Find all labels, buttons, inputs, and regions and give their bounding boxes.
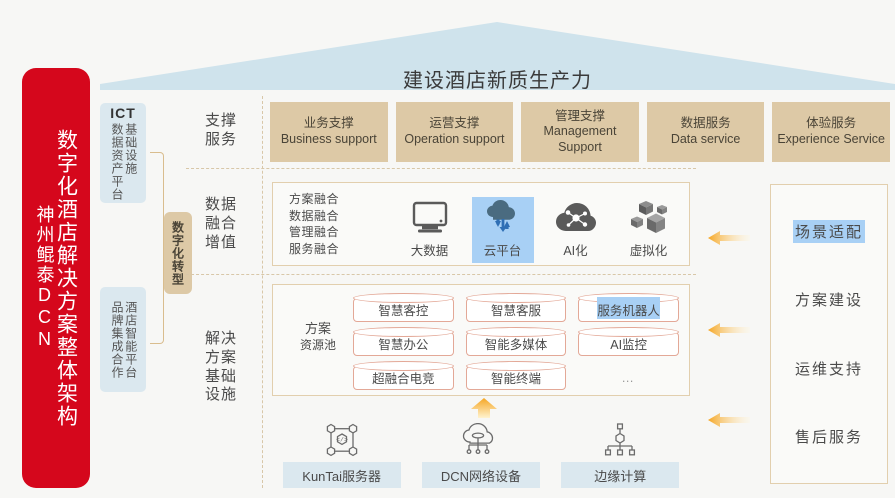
- support-card-cn: 数据服务: [681, 116, 731, 132]
- fusion-item-virtualization[interactable]: 虚拟化: [618, 197, 680, 263]
- resource-item-label: 智能终端: [491, 365, 541, 387]
- support-services-row: 业务支撑 Business support 运营支撑 Operation sup…: [270, 102, 890, 162]
- infra-item-network[interactable]: DCN网络设备: [422, 419, 540, 488]
- infra-item-label: DCN网络设备: [422, 462, 540, 488]
- fusion-item-ai[interactable]: AI化: [545, 197, 607, 263]
- resource-item-more: …: [576, 361, 681, 391]
- resource-item[interactable]: 智慧客控: [351, 293, 456, 323]
- left-arrow-icon-1: [708, 230, 750, 246]
- ai-cloud-icon: [555, 197, 597, 239]
- resource-item-label: …: [621, 368, 636, 385]
- hotel-line3: 品牌集成合作: [109, 301, 123, 379]
- sidebar-item-hotel-platform[interactable]: 酒店智能平台 品牌集成合作: [100, 287, 146, 392]
- data-fusion-panel: 方案融合数据融合管理融合服务融合 大数据: [272, 182, 690, 266]
- service-item-scenario[interactable]: 场景适配: [793, 220, 865, 243]
- row-label-sol-l2: 方案: [198, 349, 244, 368]
- resource-item-label: AI监控: [610, 331, 647, 353]
- service-lifecycle-panel: 场景适配 方案建设 运维支持 售后服务: [770, 184, 888, 484]
- architecture-diagram: 数字化酒店解决方案整体架构 神州鲲泰DCN 建设酒店新质生产力 ICT 基础设施…: [0, 0, 895, 498]
- support-card-en: Management Support: [523, 124, 637, 155]
- monitor-icon: [411, 197, 449, 239]
- data-fusion-icon-list: 大数据 云平台: [393, 187, 685, 263]
- support-card[interactable]: 数据服务 Data service: [647, 102, 765, 162]
- resource-pool-panel: 方案 资源池 智慧客控 智慧客服 服务机器人 智慧办公 智能多媒体 AI监控 超…: [272, 284, 690, 396]
- infra-item-server[interactable]: </> KunTai服务器: [283, 419, 401, 488]
- cloud-network-icon: [461, 419, 501, 457]
- resource-pool-label-top: 方案: [285, 321, 351, 338]
- ict-heading: ICT: [110, 105, 136, 121]
- fusion-item-label: AI化: [563, 240, 587, 259]
- row-label-support: 支撑服务: [198, 112, 244, 150]
- bracket-connector: [150, 152, 164, 344]
- infra-item-label: 边缘计算: [561, 462, 679, 488]
- support-card-cn: 运营支撑: [429, 116, 479, 132]
- hotel-line1: 酒店智能平台: [123, 301, 137, 379]
- vertical-divider: [262, 96, 263, 488]
- support-card-en: Operation support: [404, 132, 504, 148]
- resource-pool-label-bottom: 资源池: [285, 338, 351, 354]
- support-card[interactable]: 管理支撑 Management Support: [521, 102, 639, 162]
- resource-item[interactable]: 智能终端: [464, 361, 569, 391]
- ict-line1: 基础设施: [123, 123, 137, 201]
- resource-item[interactable]: 智慧客服: [464, 293, 569, 323]
- infrastructure-row: </> KunTai服务器 DCN网络: [272, 412, 690, 488]
- support-card-en: Business support: [281, 132, 377, 148]
- row-label-support-l2: 服务: [198, 131, 244, 150]
- horizontal-divider-1: [186, 168, 696, 169]
- row-label-data-fusion: 数据融合增值: [198, 196, 244, 252]
- banner-title-main: 数字化酒店解决方案整体架构: [56, 129, 77, 428]
- support-card[interactable]: 业务支撑 Business support: [270, 102, 388, 162]
- resource-item-label: 服务机器人: [597, 297, 660, 319]
- service-item-construction[interactable]: 方案建设: [793, 288, 865, 311]
- server-mesh-icon: </>: [325, 419, 359, 457]
- fusion-item-label: 云平台: [484, 240, 522, 259]
- row-label-sol-l4: 设施: [198, 386, 244, 405]
- support-card-cn: 体验服务: [806, 116, 856, 132]
- row-label-data-l3: 增值: [198, 234, 244, 253]
- title-banner: 数字化酒店解决方案整体架构 神州鲲泰DCN: [22, 68, 90, 488]
- resource-item-label: 超融合电竞: [372, 365, 435, 387]
- support-card-cn: 管理支撑: [555, 109, 605, 125]
- fusion-item-bigdata[interactable]: 大数据: [399, 197, 461, 263]
- resource-item-label: 智慧客服: [491, 297, 541, 319]
- digital-transformation-label: 数字化转型: [170, 221, 187, 286]
- row-label-solution: 解决方案基础设施: [198, 330, 244, 405]
- resource-item[interactable]: 超融合电竞: [351, 361, 456, 391]
- resource-item[interactable]: 智慧办公: [351, 327, 456, 357]
- resource-item[interactable]: 智能多媒体: [464, 327, 569, 357]
- support-card[interactable]: 体验服务 Experience Service: [772, 102, 890, 162]
- support-card-en: Data service: [671, 132, 740, 148]
- resource-item-label: 智慧办公: [378, 331, 428, 353]
- resource-item-label: 智能多媒体: [485, 331, 548, 353]
- row-label-data-l2: 融合: [198, 215, 244, 234]
- left-arrow-icon-2: [708, 322, 750, 338]
- support-card[interactable]: 运营支撑 Operation support: [396, 102, 514, 162]
- resource-item[interactable]: AI监控: [576, 327, 681, 357]
- resource-item[interactable]: 服务机器人: [576, 293, 681, 323]
- banner-title-sub: 神州鲲泰DCN: [36, 205, 54, 351]
- support-card-en: Experience Service: [777, 132, 885, 148]
- digital-transformation-pill[interactable]: 数字化转型: [164, 212, 192, 294]
- sidebar-item-ict[interactable]: ICT 基础设施 数据资产平台: [100, 103, 146, 203]
- row-label-data-l1: 数据: [198, 196, 244, 215]
- fusion-item-label: 大数据: [411, 240, 449, 259]
- left-arrow-icon-3: [708, 412, 750, 428]
- infra-item-label: KunTai服务器: [283, 462, 401, 488]
- fusion-item-label: 虚拟化: [630, 240, 668, 259]
- cubes-icon: [629, 197, 669, 239]
- resource-item-label: 智慧客控: [378, 297, 428, 319]
- roof-header: 建设酒店新质生产力: [100, 22, 895, 90]
- row-label-support-l1: 支撑: [198, 112, 244, 131]
- svg-text:</>: </>: [336, 437, 348, 444]
- cloud-sync-icon: [483, 197, 523, 239]
- ict-line3: 数据资产平台: [109, 123, 123, 201]
- data-fusion-text: 方案融合数据融合管理融合服务融合: [289, 191, 339, 257]
- fusion-item-cloud[interactable]: 云平台: [472, 197, 534, 263]
- service-item-ops[interactable]: 运维支持: [793, 357, 865, 380]
- resource-pool-grid: 智慧客控 智慧客服 服务机器人 智慧办公 智能多媒体 AI监控 超融合电竞 智能…: [351, 293, 681, 391]
- resource-pool-label: 方案 资源池: [285, 321, 351, 353]
- row-label-sol-l1: 解决: [198, 330, 244, 349]
- edge-node-icon: [603, 419, 637, 457]
- infra-item-edge[interactable]: 边缘计算: [561, 419, 679, 488]
- horizontal-divider-2: [186, 274, 696, 275]
- support-card-cn: 业务支撑: [304, 116, 354, 132]
- row-label-sol-l3: 基础: [198, 368, 244, 387]
- service-item-aftersales[interactable]: 售后服务: [793, 425, 865, 448]
- roof-title: 建设酒店新质生产力: [100, 64, 895, 93]
